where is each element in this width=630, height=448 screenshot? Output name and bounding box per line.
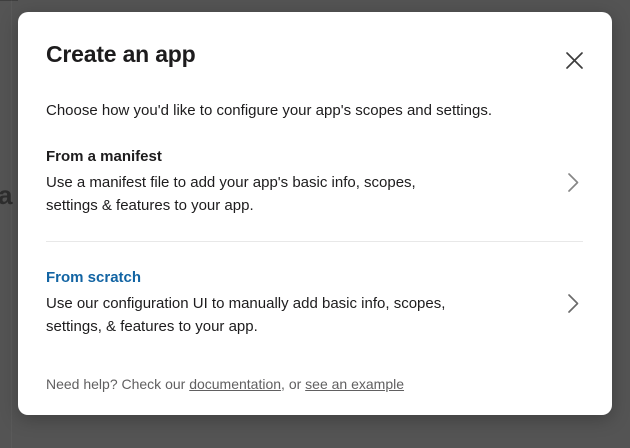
option-scratch-heading: From scratch	[46, 268, 560, 288]
dialog-title: Create an app	[46, 39, 196, 69]
option-manifest-description-line-2: settings & features to your app.	[46, 194, 516, 217]
section-divider	[46, 241, 583, 242]
option-scratch-description-line-1: Use our configuration UI to manually add…	[46, 292, 516, 315]
option-from-a-manifest[interactable]: From a manifest Use a manifest file to a…	[46, 144, 584, 220]
chevron-right-icon	[560, 169, 586, 195]
background-divider	[0, 0, 18, 1]
option-from-scratch[interactable]: From scratch Use our configuration UI to…	[46, 265, 584, 341]
create-app-dialog: Create an app Choose how you'd like to c…	[18, 12, 612, 415]
dialog-subtitle: Choose how you'd like to configure your …	[46, 100, 492, 122]
see-an-example-link[interactable]: see an example	[305, 376, 404, 392]
dialog-footer: Need help? Check our documentation, or s…	[46, 374, 404, 394]
footer-middle-text: , or	[281, 376, 305, 392]
option-manifest-description-line-1: Use a manifest file to add your app's ba…	[46, 171, 516, 194]
background-panel-edge	[11, 0, 12, 448]
close-button[interactable]	[558, 44, 590, 76]
option-manifest-text: From a manifest Use a manifest file to a…	[46, 147, 560, 217]
chevron-right-icon	[560, 290, 586, 316]
option-manifest-heading: From a manifest	[46, 147, 560, 167]
documentation-link[interactable]: documentation	[189, 376, 281, 392]
close-icon	[565, 51, 584, 70]
footer-prefix-text: Need help? Check our	[46, 376, 189, 392]
option-scratch-text: From scratch Use our configuration UI to…	[46, 268, 560, 338]
option-scratch-description-line-2: settings, & features to your app.	[46, 315, 516, 338]
